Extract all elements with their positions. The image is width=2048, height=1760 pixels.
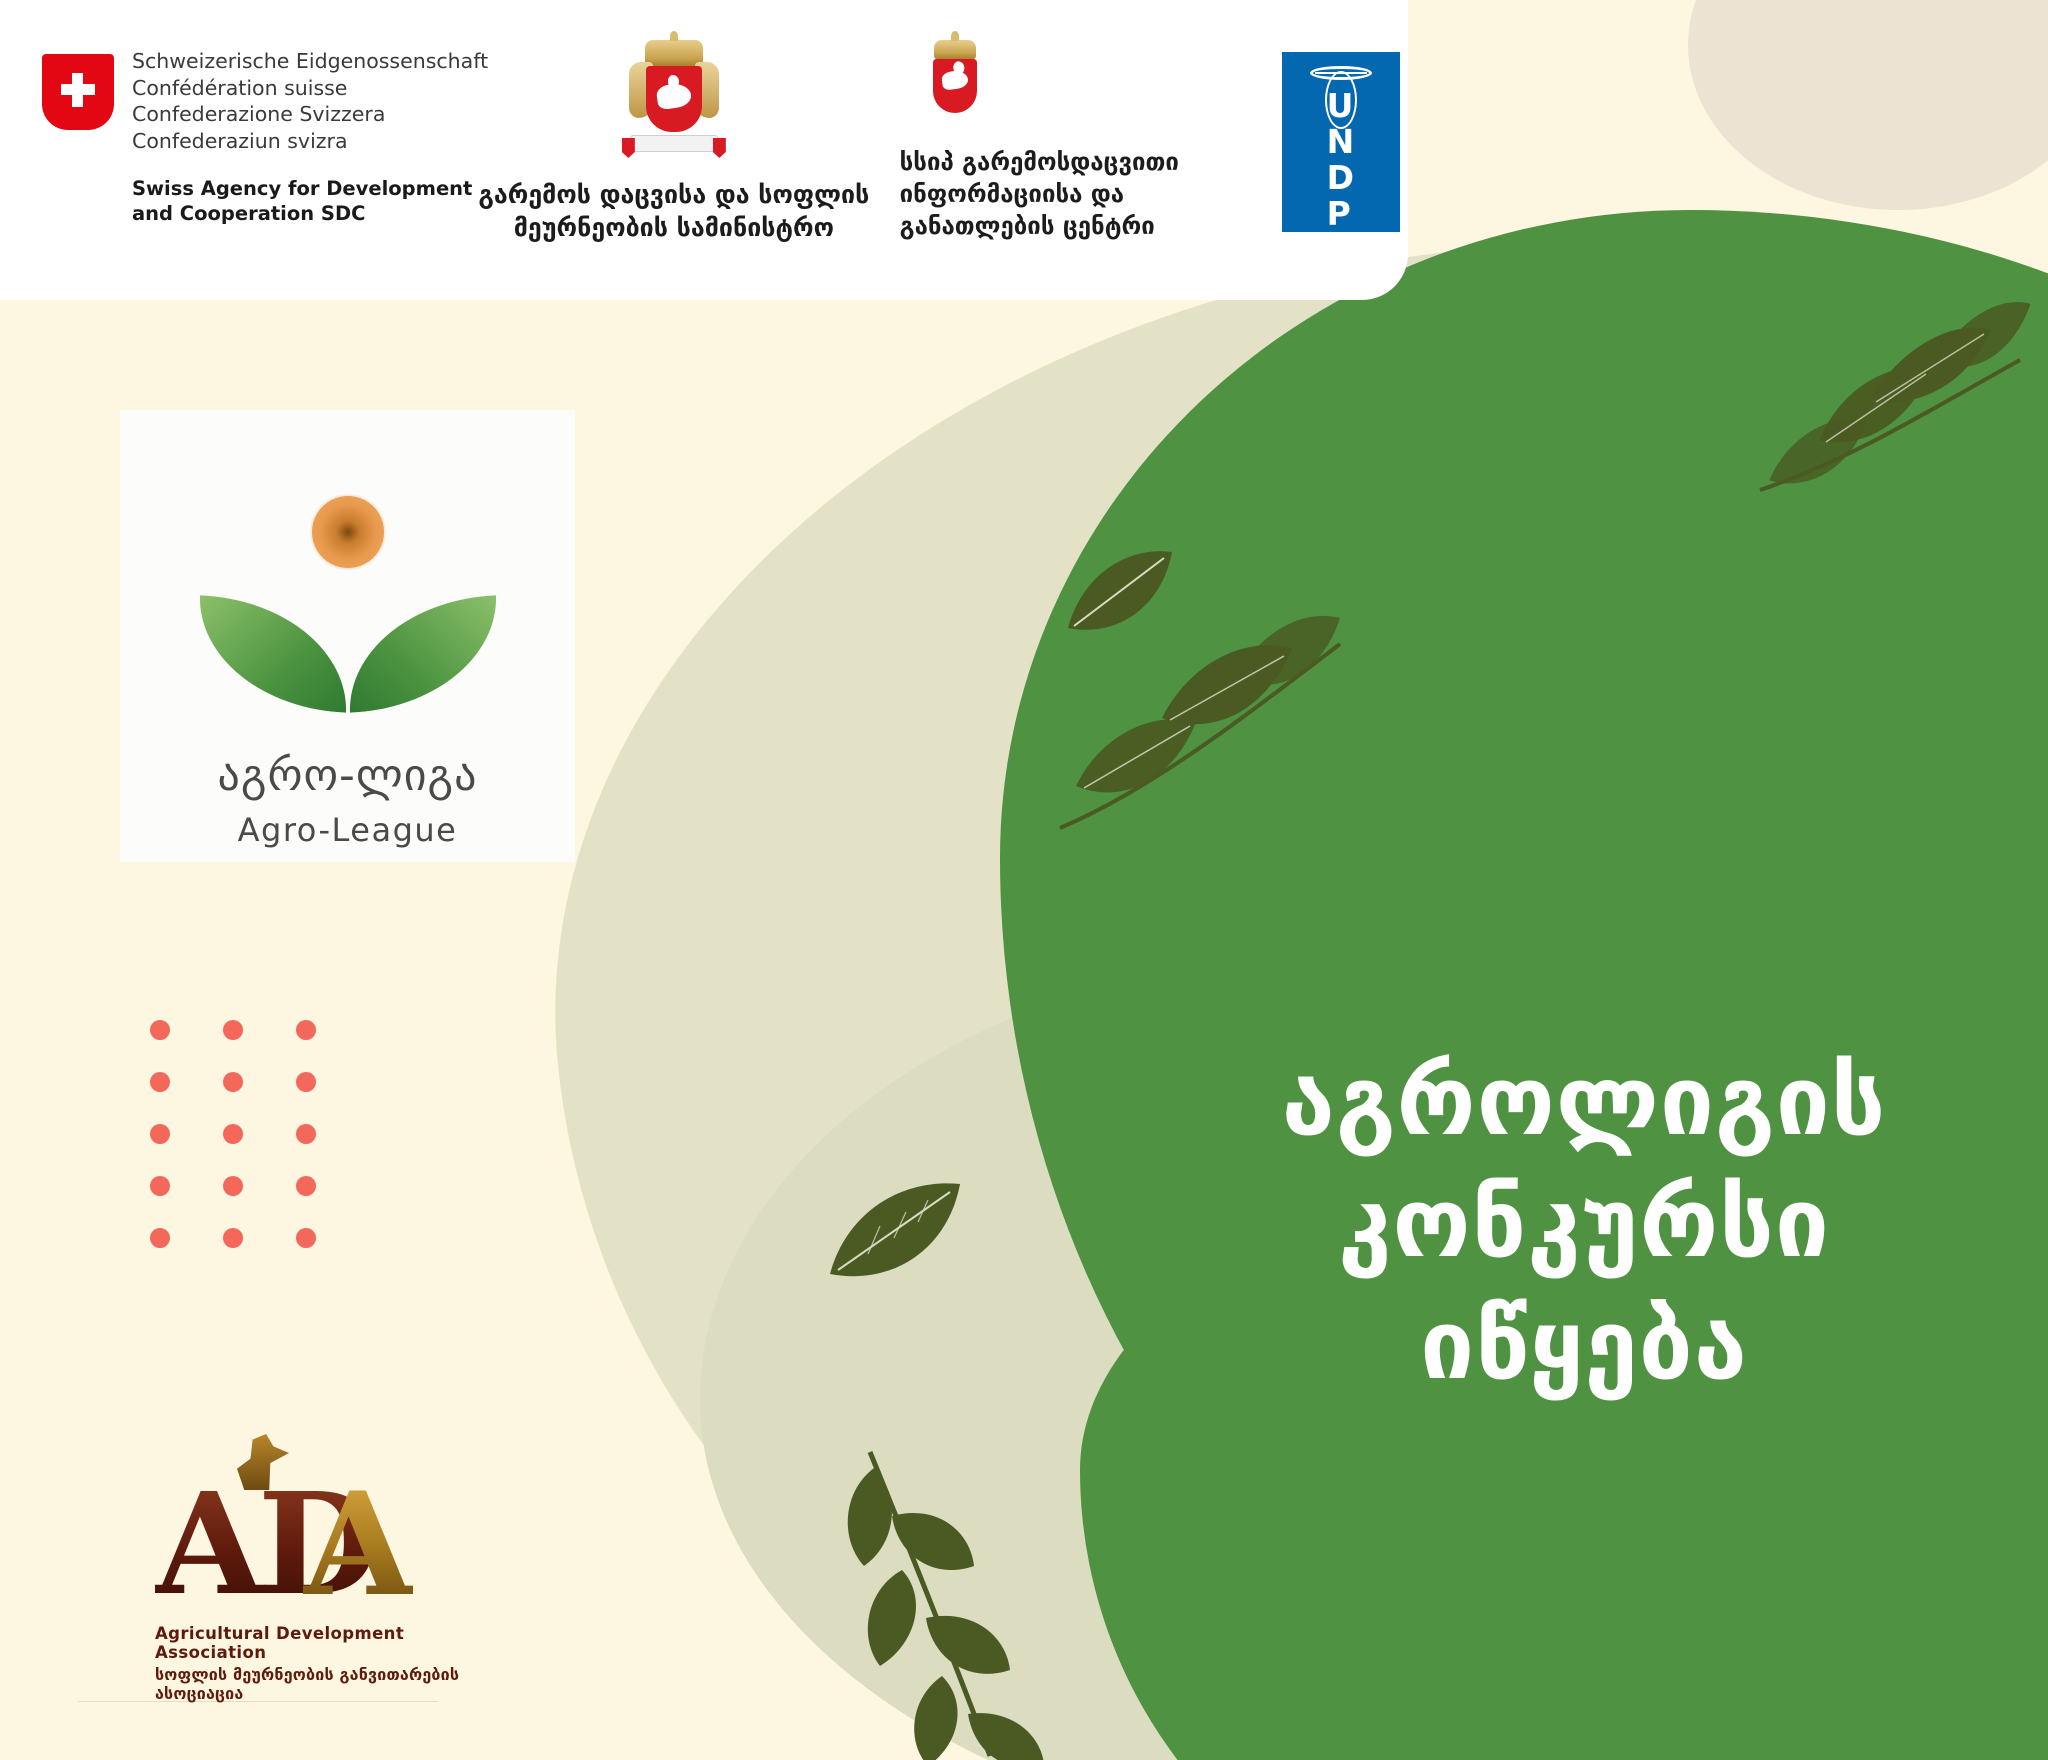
- logo-agro-league: აგრო-ლიგა Agro-League: [120, 410, 575, 862]
- sdc-line-fr: Confédération suisse: [132, 75, 488, 102]
- headline-line-2: კონკურსი: [1204, 1162, 1964, 1284]
- poster-canvas: Schweizerische Eidgenossenschaft Confédé…: [0, 0, 2048, 1760]
- leaf-twig-top-right: [1700, 290, 2030, 510]
- sunflower-icon: [268, 452, 428, 612]
- undp-letter-p: P: [1327, 196, 1356, 232]
- sdc-agency-line-1: Swiss Agency for Development: [132, 176, 488, 201]
- ministry-caption-line-2: მეურნეობის სამინისტრო: [478, 211, 869, 244]
- georgian-coat-of-arms-icon: [628, 40, 720, 158]
- leaf-twig-middle-left: [1040, 600, 1360, 844]
- eiec-caption-line-3: განათლების ცენტრი: [900, 210, 1179, 242]
- eiec-caption-line-1: სსიპ გარემოსდაცვითი: [900, 146, 1179, 178]
- logo-ministry-of-environment: გარემოს დაცვისა და სოფლის მეურნეობის სამ…: [472, 40, 876, 244]
- georgian-small-coat-of-arms-icon: [922, 40, 988, 132]
- undp-globe-icon: [1310, 66, 1372, 80]
- sdc-line-de: Schweizerische Eidgenossenschaft: [132, 48, 488, 75]
- agro-league-name-en: Agro-League: [238, 811, 458, 849]
- logo-ada: AD A Agricultural Development Associatio…: [155, 1470, 485, 1703]
- headline-line-1: აგროლიგის: [1204, 1040, 1964, 1162]
- ada-subtitle-ka: სოფლის მეურნეობის განვითარების ასოციაცია: [155, 1665, 485, 1703]
- decorative-dot-grid: [150, 1020, 369, 1280]
- undp-letter-d: D: [1327, 160, 1356, 196]
- sprout-leaves-icon: [198, 598, 498, 716]
- undp-letter-n: N: [1327, 124, 1356, 160]
- partner-logos-header: Schweizerische Eidgenossenschaft Confédé…: [0, 0, 1408, 300]
- sdc-line-rm: Confederaziun svizra: [132, 128, 488, 155]
- agro-league-name-ka: აგრო-ლიგა: [218, 750, 478, 801]
- logo-swiss-confederation: Schweizerische Eidgenossenschaft Confédé…: [42, 40, 472, 226]
- headline-line-3: იწყება: [1204, 1284, 1964, 1406]
- eiec-caption-line-2: ინფორმაციისა და: [900, 178, 1179, 210]
- swiss-cross-icon: [42, 54, 114, 130]
- page-title: აგროლიგის კონკურსი იწყება: [1204, 1040, 1964, 1406]
- leaf-branch-bottom: [840, 1440, 1100, 1760]
- ada-subtitle-en: Agricultural Development Association: [155, 1624, 485, 1662]
- corner-decoration-blob: [1688, 0, 2048, 210]
- sdc-agency-line-2: and Cooperation SDC: [132, 201, 488, 226]
- sdc-line-it: Confederazione Svizzera: [132, 101, 488, 128]
- logo-undp: U N D P: [1260, 40, 1408, 232]
- ada-acronym-second-a: A: [303, 1474, 413, 1616]
- leaf-single-center: [820, 1170, 970, 1294]
- logo-environmental-information-education-centre: სსიპ გარემოსდაცვითი ინფორმაციისა და განა…: [876, 40, 1260, 242]
- ministry-caption-line-1: გარემოს დაცვისა და სოფლის: [478, 178, 869, 211]
